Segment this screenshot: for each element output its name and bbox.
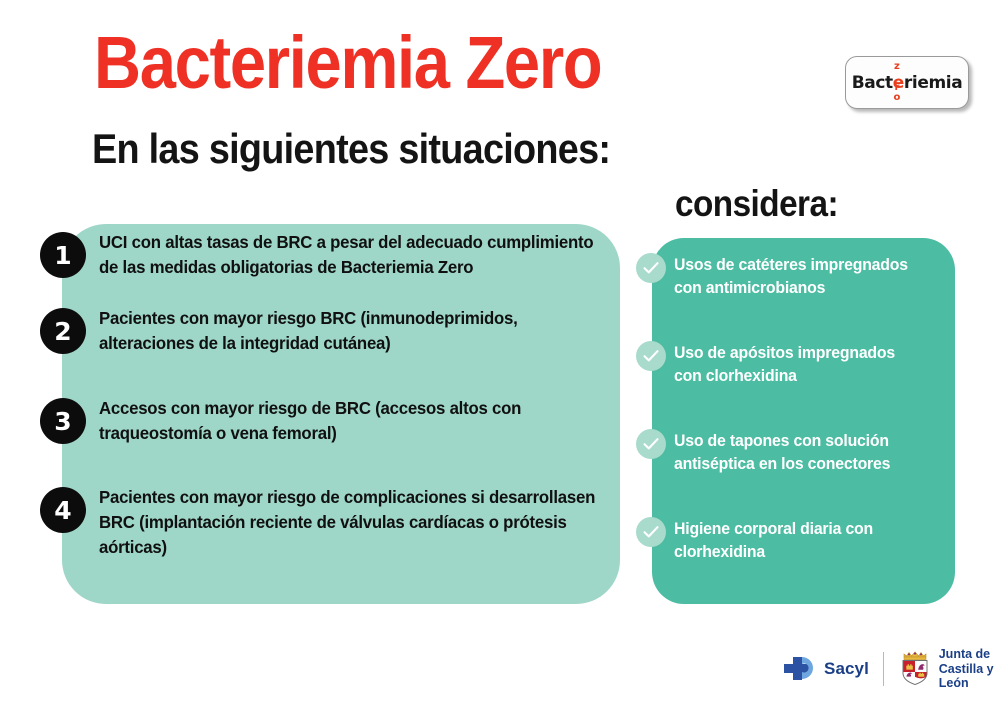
junta-label-line1: Junta de: [939, 647, 1000, 662]
check-icon: [636, 341, 666, 371]
consider-text: Higiene corporal diaria con clorhexidina: [674, 518, 926, 564]
page-title: Bacteriemia Zero: [94, 28, 601, 98]
brand-vert-letter-2: r: [894, 83, 899, 94]
footer-divider: [883, 652, 884, 686]
sacyl-label: Sacyl: [824, 659, 869, 679]
situation-number-badge: 3: [40, 398, 86, 444]
consider-item-4: Higiene corporal diaria con clorhexidina: [636, 518, 936, 564]
situation-item-4: 4 Pacientes con mayor riesgo de complica…: [40, 485, 620, 560]
situation-text: UCI con altas tasas de BRC a pesar del a…: [99, 230, 599, 280]
situation-number-badge: 2: [40, 308, 86, 354]
brand-word-part-1: Bact: [852, 73, 893, 93]
junta-label-line2: Castilla y León: [939, 662, 1000, 692]
situation-text: Pacientes con mayor riesgo de complicaci…: [99, 485, 599, 560]
situation-text: Accesos con mayor riesgo de BRC (accesos…: [99, 396, 599, 446]
situation-item-1: 1 UCI con altas tasas de BRC a pesar del…: [40, 230, 620, 280]
junta-label: Junta de Castilla y León: [939, 647, 1000, 691]
sacyl-logo: Sacyl: [782, 654, 869, 684]
situation-number-badge: 1: [40, 232, 86, 278]
consider-text: Usos de catéteres impregnados con antimi…: [674, 254, 926, 300]
brand-word-part-2: riemia: [904, 73, 962, 93]
brand-badge-inner: Bacteriemia z e r o: [846, 57, 968, 108]
sacyl-cross-logo: [782, 654, 818, 684]
considera-heading: considera:: [675, 183, 838, 225]
brand-vert-letter-0: z: [894, 62, 899, 73]
junta-logo: Junta de Castilla y León: [898, 647, 1000, 691]
consider-text: Uso de tapones con solución antiséptica …: [674, 430, 926, 476]
situation-item-2: 2 Pacientes con mayor riesgo BRC (inmuno…: [40, 306, 620, 356]
check-icon: [636, 253, 666, 283]
situation-item-3: 3 Accesos con mayor riesgo de BRC (acces…: [40, 396, 620, 446]
footer-logos: Sacyl: [782, 648, 1000, 690]
consider-item-3: Uso de tapones con solución antiséptica …: [636, 430, 936, 476]
bacteriemia-zero-logo: Bacteriemia z e r o: [845, 56, 969, 109]
consider-item-2: Uso de apósitos impregnados con clorhexi…: [636, 342, 936, 388]
check-icon: [636, 517, 666, 547]
brand-wordmark: Bacteriemia z e r o: [852, 73, 963, 93]
page-subtitle: En las siguientes situaciones:: [92, 128, 610, 170]
check-icon: [636, 429, 666, 459]
consider-text: Uso de apósitos impregnados con clorhexi…: [674, 342, 926, 388]
consider-item-1: Usos de catéteres impregnados con antimi…: [636, 254, 936, 300]
castilla-y-leon-coat-of-arms: [898, 648, 932, 691]
brand-vertical-zero: z e r o: [893, 62, 899, 104]
brand-vert-letter-3: o: [893, 93, 899, 104]
situation-number-badge: 4: [40, 487, 86, 533]
situation-text: Pacientes con mayor riesgo BRC (inmunode…: [99, 306, 599, 356]
